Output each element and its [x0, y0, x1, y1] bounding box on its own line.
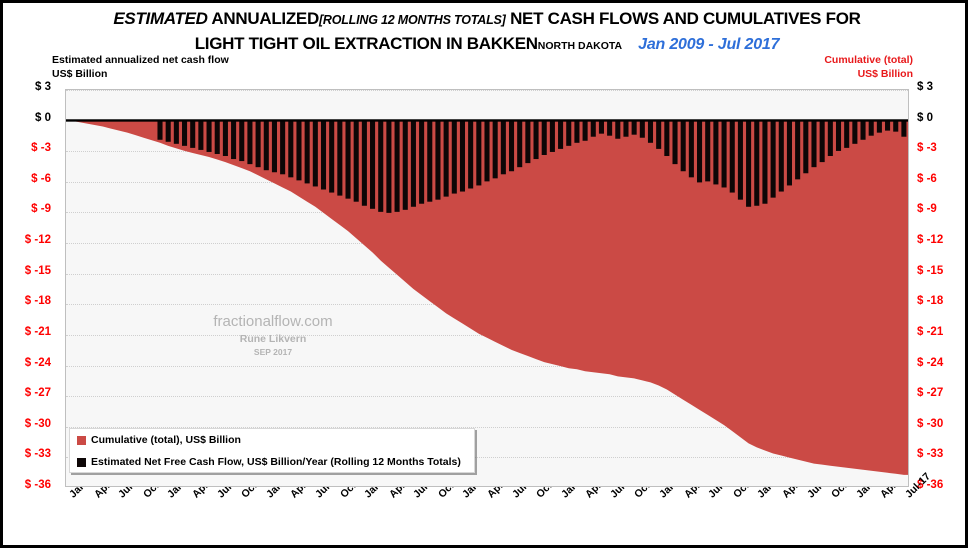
chart-canvas — [66, 90, 908, 486]
legend-swatch-netcashflow-icon — [77, 458, 86, 467]
bar — [672, 120, 677, 164]
bar — [640, 120, 645, 137]
bar — [174, 120, 179, 143]
title-netcashflows: NET CASH FLOWS AND CUMULATIVES FOR — [506, 9, 861, 28]
legend-item-cumulative[interactable]: Cumulative (total), US$ Billion — [70, 429, 474, 451]
y-tick-label: $ 0 — [917, 112, 933, 124]
y-tick-label: $ -24 — [917, 357, 943, 369]
bar — [877, 120, 882, 132]
bar — [157, 120, 162, 139]
bar — [272, 120, 277, 172]
title-date-range: Jan 2009 - Jul 2017 — [638, 36, 779, 53]
bar — [509, 120, 514, 171]
bar — [599, 120, 604, 133]
bar — [435, 120, 440, 199]
bar — [247, 120, 252, 164]
zero-line — [66, 119, 908, 121]
bar — [803, 120, 808, 173]
bar — [321, 120, 326, 189]
y-tick-label: $ -27 — [917, 387, 943, 399]
y-tick-label: $ -9 — [31, 203, 51, 215]
y-tick-label: $ -21 — [917, 326, 943, 338]
bar — [697, 120, 702, 182]
bar — [852, 120, 857, 143]
bar — [296, 120, 301, 180]
y-tick-label: $ -6 — [31, 173, 51, 185]
bar — [869, 120, 874, 135]
bar — [493, 120, 498, 178]
bar — [689, 120, 694, 177]
bar — [517, 120, 522, 167]
bar — [444, 120, 449, 196]
y-tick-label: $ -30 — [917, 418, 943, 430]
bar — [705, 120, 710, 181]
bar — [484, 120, 489, 181]
bar — [313, 120, 318, 186]
bar — [378, 120, 383, 211]
bar — [354, 120, 359, 201]
y-tick-label: $ -18 — [25, 295, 51, 307]
right-axis-caption: Cumulative (total) US$ Billion — [824, 53, 913, 81]
y-tick-label: $ -33 — [917, 448, 943, 460]
bar — [730, 120, 735, 192]
y-tick-label: $ -21 — [25, 326, 51, 338]
bar — [893, 120, 898, 131]
bar — [525, 120, 530, 163]
y-tick-label: $ 0 — [35, 112, 51, 124]
y-tick-label: $ -15 — [917, 265, 943, 277]
bar — [231, 120, 236, 159]
bar — [754, 120, 759, 205]
chart-screenshot: ESTIMATED ANNUALIZED[ROLLING 12 MONTHS T… — [0, 0, 968, 548]
bar — [264, 120, 269, 170]
zero-baseline — [66, 119, 908, 121]
bar — [256, 120, 261, 167]
right-axis-caption-line1: Cumulative (total) — [824, 53, 913, 67]
bar — [345, 120, 350, 198]
title-estimated: ESTIMATED — [113, 9, 207, 28]
bar — [861, 120, 866, 139]
bar — [329, 120, 334, 192]
bar — [362, 120, 367, 205]
bar — [836, 120, 841, 150]
bar — [239, 120, 244, 161]
bar — [215, 120, 220, 154]
bar — [198, 120, 203, 149]
title-rolling-note: [ROLLING 12 MONTHS TOTALS] — [319, 13, 506, 27]
bar — [664, 120, 669, 156]
bar — [370, 120, 375, 208]
bar — [288, 120, 293, 177]
bar — [771, 120, 776, 197]
watermark-date: SEP 2017 — [203, 347, 343, 357]
bar — [820, 120, 825, 162]
bar — [681, 120, 686, 171]
bar — [501, 120, 506, 174]
bar — [566, 120, 571, 145]
bar — [534, 120, 539, 159]
y-tick-label: $ -33 — [25, 448, 51, 460]
y-tick-label: $ -36 — [25, 479, 51, 491]
bar — [280, 120, 285, 174]
chart-legend: Cumulative (total), US$ Billion Estimate… — [69, 428, 475, 473]
bar — [419, 120, 424, 203]
bar — [395, 120, 400, 211]
bar — [550, 120, 555, 151]
bar — [542, 120, 547, 155]
bar — [656, 120, 661, 148]
bar — [403, 120, 408, 209]
y-tick-label: $ -9 — [917, 203, 937, 215]
bar — [746, 120, 751, 206]
bar — [411, 120, 416, 206]
legend-label-net-free-cash-flow: Estimated Net Free Cash Flow, US$ Billio… — [91, 456, 461, 468]
bar — [476, 120, 481, 185]
legend-swatch-cumulative-icon — [77, 436, 86, 445]
bar — [722, 120, 727, 187]
bar — [223, 120, 228, 156]
title-annualized: ANNUALIZED — [208, 9, 319, 28]
y-tick-label: $ -27 — [25, 387, 51, 399]
y-tick-label: $ -3 — [31, 142, 51, 154]
bar — [901, 120, 906, 136]
bar — [427, 120, 432, 201]
y-tick-label: $ 3 — [917, 81, 933, 93]
y-tick-label: $ -18 — [917, 295, 943, 307]
bar — [623, 120, 628, 136]
bar — [795, 120, 800, 179]
left-axis-caption-line1: Estimated annualized net cash flow — [52, 53, 229, 67]
watermark-author: Rune Likvern — [203, 333, 343, 345]
legend-label-cumulative: Cumulative (total), US$ Billion — [91, 434, 241, 446]
bar — [558, 120, 563, 148]
bar — [190, 120, 195, 147]
bar — [615, 120, 620, 138]
y-tick-label: $ -15 — [25, 265, 51, 277]
bar — [386, 120, 391, 212]
bar — [452, 120, 457, 193]
bar — [779, 120, 784, 191]
y-tick-label: $ -3 — [917, 142, 937, 154]
y-tick-label: $ -12 — [917, 234, 943, 246]
y-tick-label: $ 3 — [35, 81, 51, 93]
bar — [648, 120, 653, 142]
bar — [811, 120, 816, 167]
bar — [305, 120, 310, 183]
bar — [828, 120, 833, 156]
bar — [738, 120, 743, 199]
title-bakken: LIGHT TIGHT OIL EXTRACTION IN BAKKEN — [195, 34, 538, 53]
y-tick-label: $ -30 — [25, 418, 51, 430]
bar — [574, 120, 579, 142]
bar — [207, 120, 212, 151]
title-line-1: ESTIMATED ANNUALIZED[ROLLING 12 MONTHS T… — [3, 7, 968, 32]
bar — [762, 120, 767, 203]
right-axis-caption-line2: US$ Billion — [824, 67, 913, 81]
left-axis-caption: Estimated annualized net cash flow US$ B… — [52, 53, 229, 81]
left-axis-caption-line2: US$ Billion — [52, 67, 229, 81]
bar — [460, 120, 465, 191]
y-tick-label: $ -12 — [25, 234, 51, 246]
bar — [885, 120, 890, 130]
bar — [337, 120, 342, 195]
bar — [713, 120, 718, 184]
bar — [607, 120, 612, 135]
legend-item-net-free-cash-flow[interactable]: Estimated Net Free Cash Flow, US$ Billio… — [70, 451, 474, 473]
bar — [844, 120, 849, 147]
title-north-dakota: NORTH DAKOTA — [538, 40, 622, 52]
bar — [182, 120, 187, 145]
bar — [166, 120, 171, 141]
bar — [468, 120, 473, 188]
watermark-site: fractionalflow.com — [203, 313, 343, 330]
bar — [787, 120, 792, 185]
bar — [632, 120, 637, 134]
y-tick-label: $ -24 — [25, 357, 51, 369]
bar — [583, 120, 588, 140]
y-tick-label: $ -6 — [917, 173, 937, 185]
bar — [591, 120, 596, 136]
chart-title-block: ESTIMATED ANNUALIZED[ROLLING 12 MONTHS T… — [3, 7, 968, 58]
